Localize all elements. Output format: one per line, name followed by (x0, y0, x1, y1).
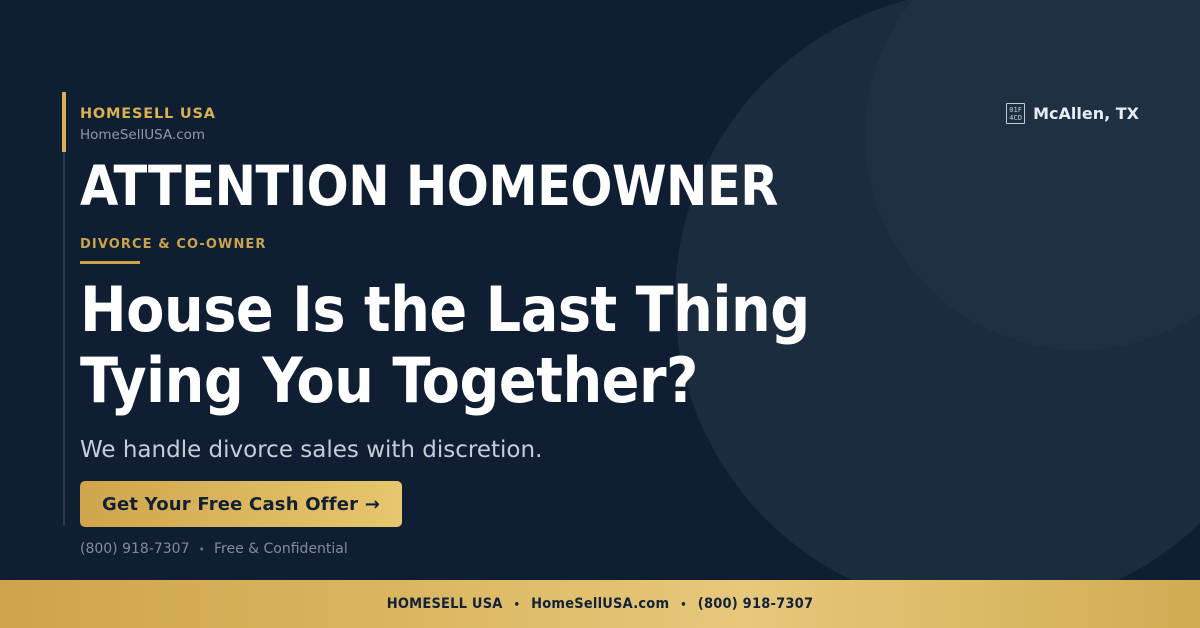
footer-separator-1: • (514, 598, 521, 611)
footer-bar: HOMESELL USA • HomeSellUSA.com • (800) 9… (0, 580, 1200, 628)
brand-name: HOMESELL USA (80, 105, 216, 123)
footer-brand: HOMESELL USA (387, 596, 503, 612)
eyebrow-label: DIVORCE & CO-OWNER (80, 237, 267, 252)
headline-line-1: House Is the Last Thing (80, 274, 980, 345)
main-headline: House Is the Last Thing Tying You Togeth… (80, 274, 980, 417)
footer-phone[interactable]: (800) 918-7307 (698, 596, 813, 612)
content-column: HOMESELL USA HomeSellUSA.com ATTENTION H… (80, 0, 980, 580)
headline-line-2: Tying You Together? (80, 345, 980, 416)
trust-line: (800) 918-7307 • Free & Confidential (80, 541, 348, 557)
gold-accent-bar (62, 92, 66, 152)
subheadline: We handle divorce sales with discretion. (80, 436, 542, 466)
footer-website[interactable]: HomeSellUSA.com (531, 596, 669, 612)
trust-phone[interactable]: (800) 918-7307 (80, 541, 190, 557)
location-badge: 01F 4CD McAllen, TX (1006, 103, 1139, 124)
brand-website: HomeSellUSA.com (80, 127, 216, 144)
cta-get-free-cash-offer-button[interactable]: Get Your Free Cash Offer → (80, 481, 402, 527)
pin-icon-glyph-top: 01F (1007, 106, 1024, 114)
pin-icon-glyph-bottom: 4CD (1007, 114, 1024, 122)
attention-headline: ATTENTION HOMEOWNER (80, 158, 778, 216)
location-pin-icon: 01F 4CD (1006, 103, 1025, 124)
trust-note: Free & Confidential (214, 541, 348, 557)
eyebrow-underline (80, 261, 140, 264)
location-label: McAllen, TX (1033, 104, 1139, 123)
footer-separator-2: • (680, 598, 687, 611)
brand-block: HOMESELL USA HomeSellUSA.com (80, 105, 216, 144)
footer-content: HOMESELL USA • HomeSellUSA.com • (800) 9… (387, 596, 813, 612)
trust-separator-dot: • (199, 543, 206, 556)
vertical-rail-line (63, 152, 65, 525)
ad-creative: 01F 4CD McAllen, TX HOMESELL USA HomeSel… (0, 0, 1200, 628)
